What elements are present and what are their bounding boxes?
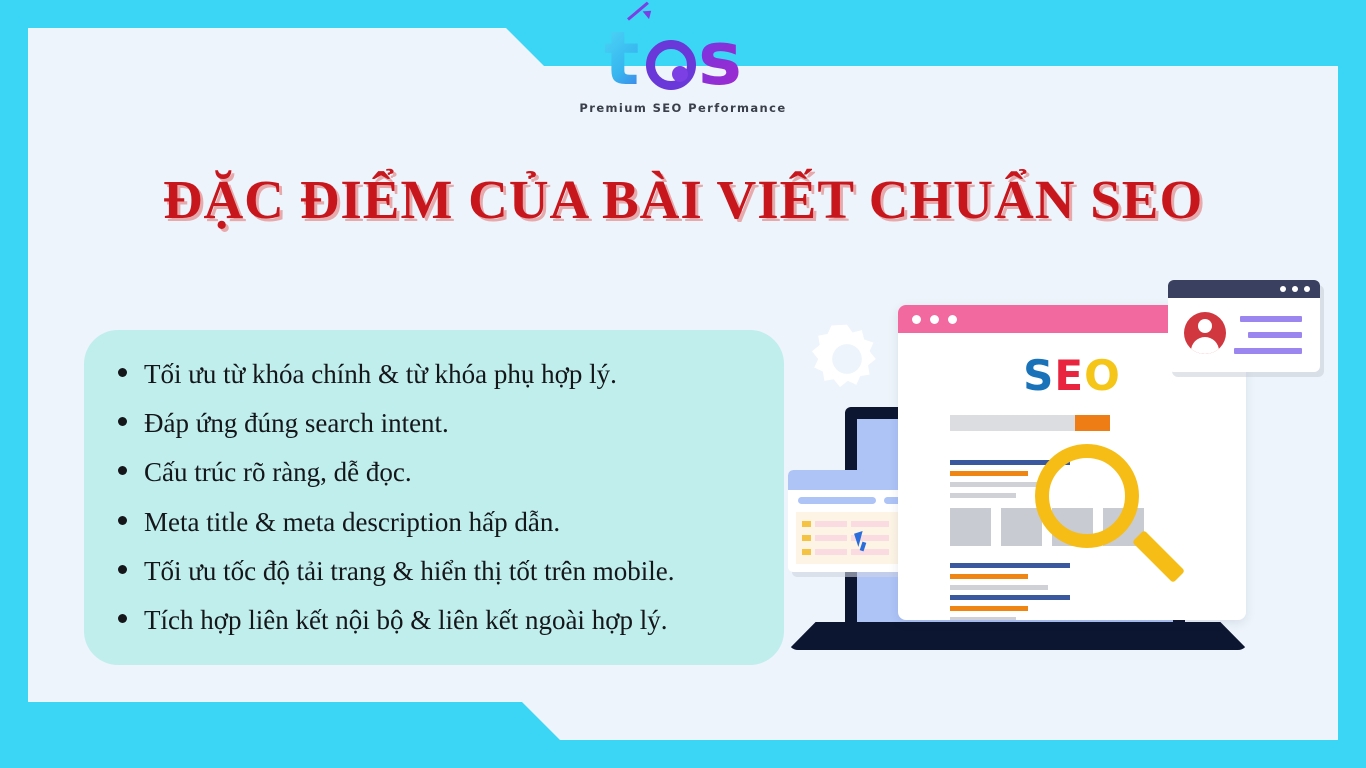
list-item: Cấu trúc rõ ràng, dễ đọc. [118,457,756,488]
page-title: ĐẶC ĐIỂM CỦA BÀI VIẾT CHUẨN SEO [0,168,1366,231]
content-line-link [950,606,1028,611]
list-item-label: Tối ưu tốc độ tải trang & hiển thị tốt t… [144,556,675,587]
row-bar [851,521,889,527]
content-thumbnail [950,508,991,546]
progress-bar [950,415,1110,431]
row-bar [815,521,847,527]
content-line-text [950,617,1016,620]
list-item-label: Cấu trúc rõ ràng, dễ đọc. [144,457,412,488]
row-bar [815,535,847,541]
poster-canvas: t s Premium SEO Performance ĐẶC ĐIỂM CỦA… [0,0,1366,768]
window-dot-icon [912,315,921,324]
bullet-dot-icon [118,614,127,623]
content-line-heading [950,595,1070,600]
content-line-heading [950,563,1070,568]
avatar-head-icon [1198,319,1212,333]
window-dot-icon [1280,286,1286,292]
list-item: Tối ưu tốc độ tải trang & hiển thị tốt t… [118,556,756,587]
gear-icon [808,320,886,398]
secondary-window-pill [798,497,876,504]
row-bar [851,549,889,555]
list-item: Tối ưu từ khóa chính & từ khóa phụ hợp l… [118,359,756,390]
bullet-dot-icon [118,516,127,525]
magnifier-icon [1035,444,1139,548]
profile-line [1248,332,1302,338]
logo-tagline: Premium SEO Performance [0,101,1366,115]
content-line-link [950,471,1028,476]
logo-letter-s: s [698,24,742,94]
window-dot-icon [948,315,957,324]
logo-target-center [672,66,688,82]
logo-letter-t: t [604,24,639,94]
profile-line [1234,348,1302,354]
content-line-text [950,585,1048,590]
seo-letter-o: O [1084,351,1121,400]
list-item: Đáp ứng đúng search intent. [118,408,756,439]
bullet-dot-icon [118,565,127,574]
list-item-label: Đáp ứng đúng search intent. [144,408,449,439]
list-item-label: Meta title & meta description hấp dẫn. [144,507,560,538]
row-bar [815,549,847,555]
profile-line [1240,316,1302,322]
list-item-label: Tích hợp liên kết nội bộ & liên kết ngoà… [144,605,667,636]
logo-mark: t s [598,22,768,92]
list-item: Tích hợp liên kết nội bộ & liên kết ngoà… [118,605,756,636]
bullet-dot-icon [118,466,127,475]
window-dot-icon [1304,286,1310,292]
content-line-text [950,482,1048,487]
seo-illustration: SEO [780,272,1320,672]
logo-arrowhead-icon [643,7,655,19]
row-tag-icon [802,549,811,555]
seo-letter-e: E [1054,351,1084,400]
bullet-dot-icon [118,417,127,426]
logo-target-icon [646,40,696,90]
window-dot-icon [1292,286,1298,292]
avatar [1184,312,1226,354]
avatar-body-icon [1191,337,1219,354]
progress-bar-fill [1075,415,1110,431]
brand-logo: t s Premium SEO Performance [0,22,1366,115]
seo-letter-s: S [1023,351,1054,400]
window-dot-icon [930,315,939,324]
content-thumbnail [1001,508,1042,546]
list-item-label: Tối ưu từ khóa chính & từ khóa phụ hợp l… [144,359,617,390]
row-tag-icon [802,535,811,541]
bullet-dot-icon [118,368,127,377]
content-line-link [950,574,1028,579]
content-line-text [950,493,1016,498]
profile-card-titlebar [1168,280,1320,298]
list-item: Meta title & meta description hấp dẫn. [118,507,756,538]
row-tag-icon [802,521,811,527]
profile-card[interactable] [1168,280,1320,372]
laptop-base [788,622,1248,650]
feature-list-card: Tối ưu từ khóa chính & từ khóa phụ hợp l… [84,330,784,665]
